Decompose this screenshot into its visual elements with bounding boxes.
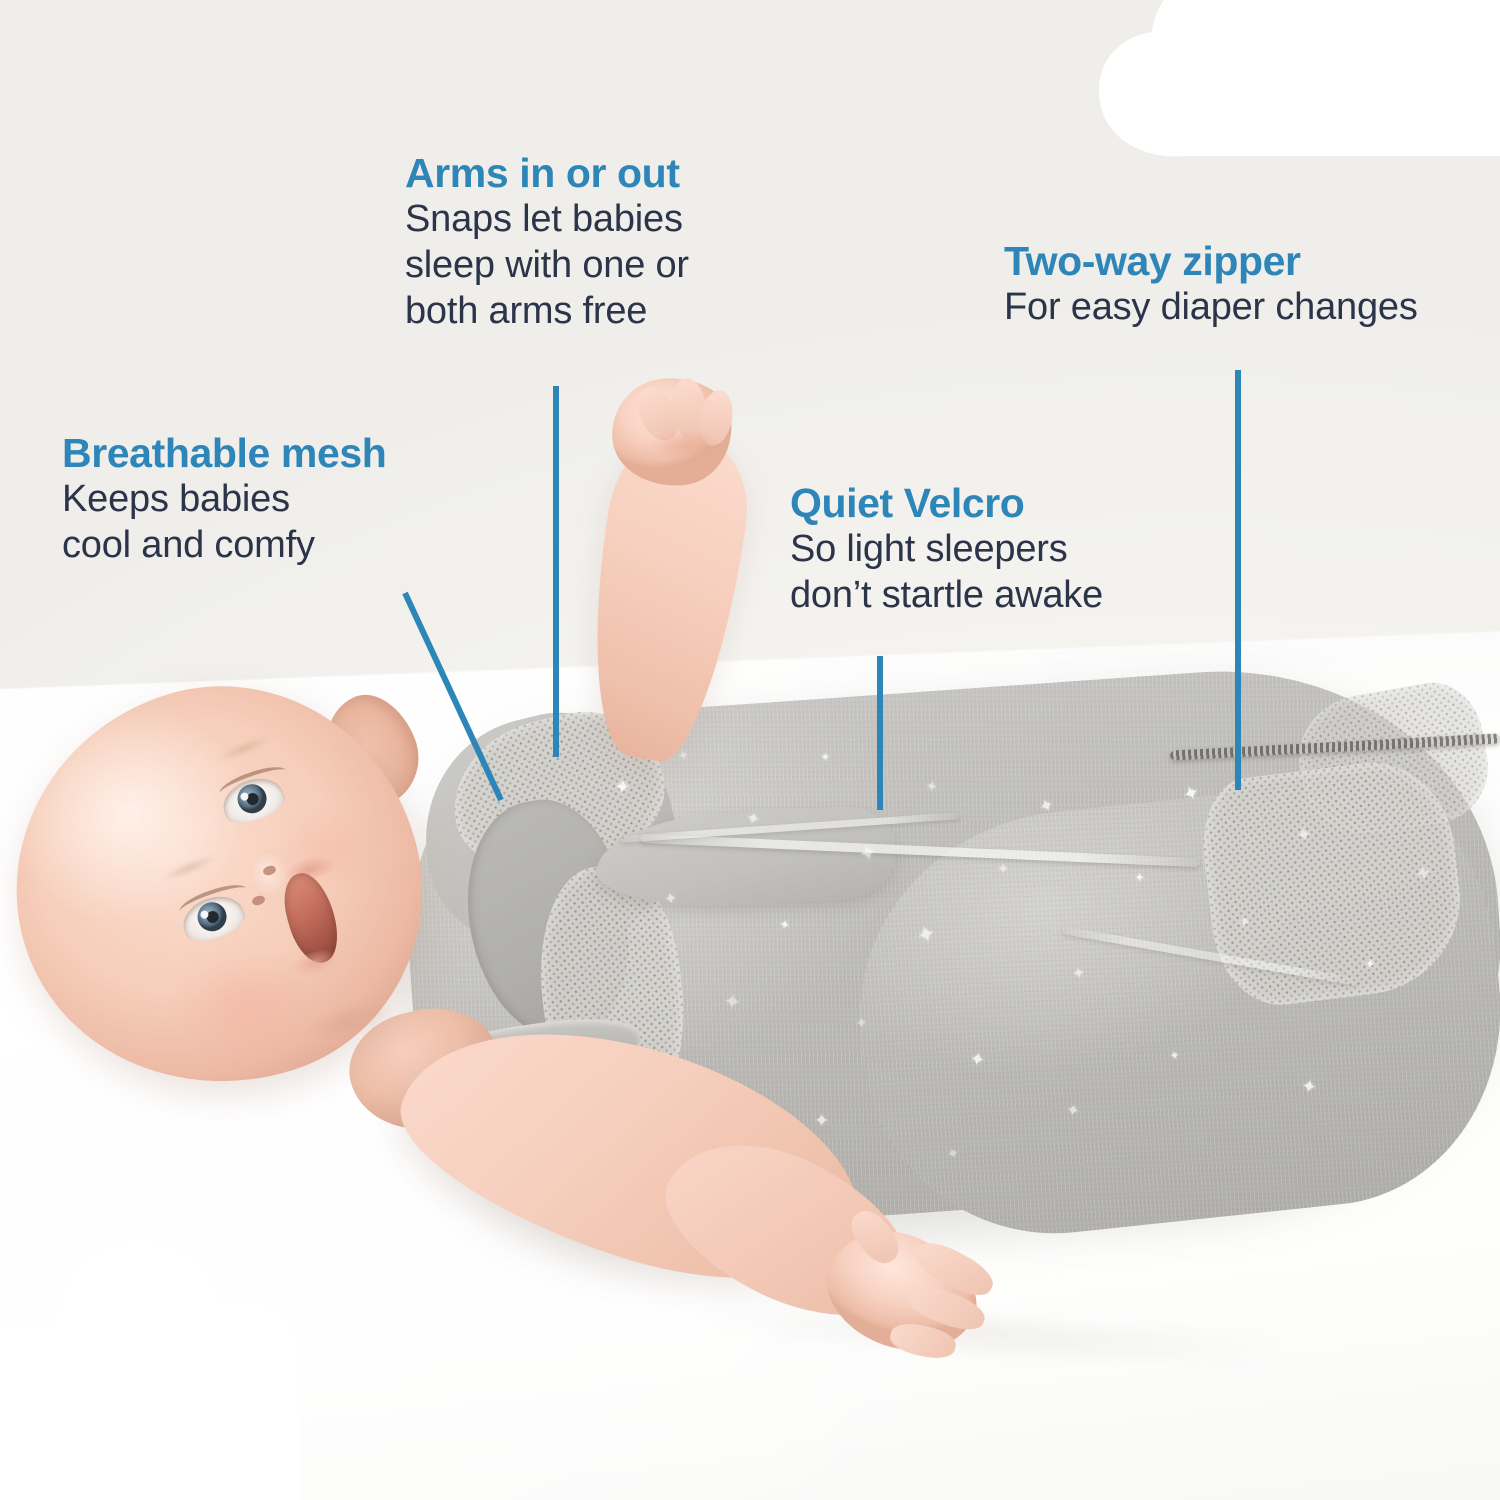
callout-title: Quiet Velcro	[790, 482, 1103, 525]
knuckles	[640, 430, 732, 460]
callout-quiet-velcro: Quiet Velcro So light sleepers don’t sta…	[790, 482, 1103, 619]
callout-title: Arms in or out	[405, 152, 689, 195]
callout-body: Keeps babies cool and comfy	[62, 477, 386, 568]
callout-body-line: sleep with one or	[405, 244, 689, 286]
callout-title: Breathable mesh	[62, 432, 386, 475]
callout-body-line: Snaps let babies	[405, 198, 683, 240]
callout-arms-in-or-out: Arms in or out Snaps let babies sleep wi…	[405, 152, 689, 334]
callout-body-line: don’t startle awake	[790, 574, 1103, 616]
callout-body-line: So light sleepers	[790, 528, 1068, 570]
product-photo: ✦✦✦✦✦✦✦✦✦✦✦✦✦✦✦✦✦✦✦✦✦✦✦✦✦✦✦	[0, 0, 1500, 1500]
callout-body: For easy diaper changes	[1004, 285, 1418, 331]
callout-body-line: both arms free	[405, 290, 647, 332]
callout-body-line: Keeps babies	[62, 478, 290, 520]
callout-breathable-mesh: Breathable mesh Keeps babies cool and co…	[62, 432, 386, 569]
callout-body-line: For easy diaper changes	[1004, 286, 1418, 328]
callout-body: So light sleepers don’t startle awake	[790, 527, 1103, 618]
callout-body: Snaps let babies sleep with one or both …	[405, 197, 689, 334]
callout-two-way-zipper: Two-way zipper For easy diaper changes	[1004, 240, 1418, 331]
infographic-canvas: ✦✦✦✦✦✦✦✦✦✦✦✦✦✦✦✦✦✦✦✦✦✦✦✦✦✦✦	[0, 0, 1500, 1500]
callout-title: Two-way zipper	[1004, 240, 1418, 283]
callout-body-line: cool and comfy	[62, 524, 315, 566]
